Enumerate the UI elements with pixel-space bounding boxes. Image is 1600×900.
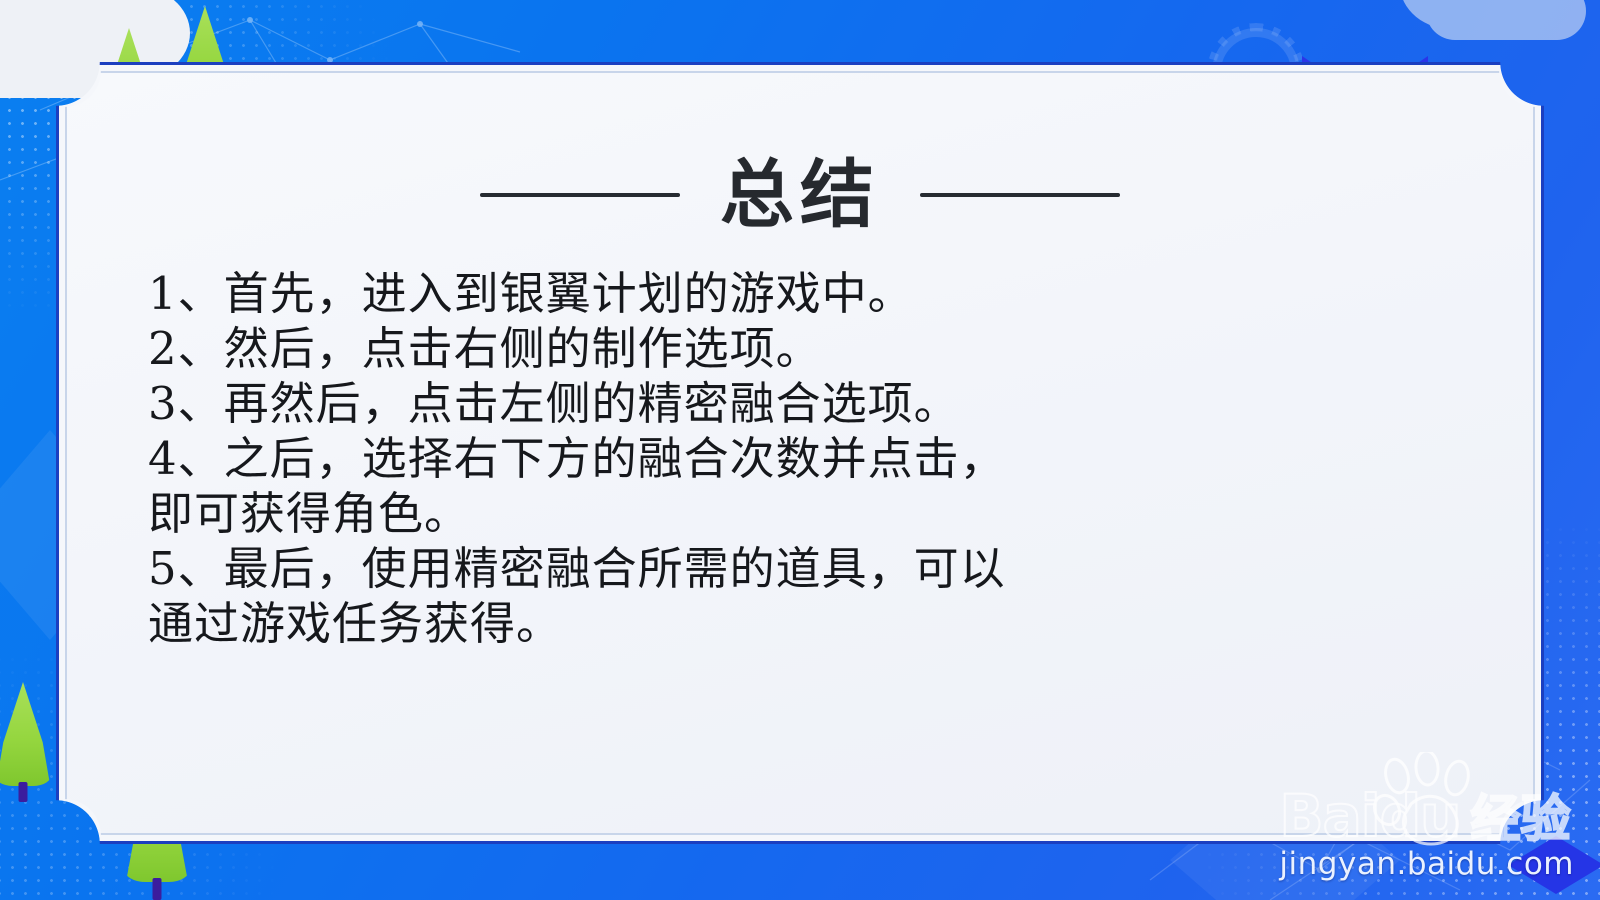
slide-canvas: 总结 1、首先，进入到银翼计划的游戏中。 2、然后，点击右侧的制作选项。 3、再… xyxy=(0,0,1600,900)
blue-diamond-icon xyxy=(1508,836,1600,894)
summary-line: 通过游戏任务获得。 xyxy=(148,596,1474,651)
summary-list: 1、首先，进入到银翼计划的游戏中。 2、然后，点击右侧的制作选项。 3、再然后，… xyxy=(126,266,1474,651)
summary-line: 1、首先，进入到银翼计划的游戏中。 xyxy=(148,266,1474,321)
tree-icon xyxy=(0,682,52,802)
content-card: 总结 1、首先，进入到银翼计划的游戏中。 2、然后，点击右侧的制作选项。 3、再… xyxy=(56,62,1544,844)
summary-line: 5、最后，使用精密融合所需的道具，可以 xyxy=(148,541,1474,596)
summary-line: 4、之后，选择右下方的融合次数并点击， xyxy=(148,431,1474,486)
page-title-row: 总结 xyxy=(126,158,1474,232)
summary-line: 3、再然后，点击左侧的精密融合选项。 xyxy=(148,376,1474,431)
title-rule-right xyxy=(920,193,1120,197)
summary-line: 2、然后，点击右侧的制作选项。 xyxy=(148,321,1474,376)
card-content: 总结 1、首先，进入到银翼计划的游戏中。 2、然后，点击右侧的制作选项。 3、再… xyxy=(56,62,1544,844)
watermark-url: jingyan.baidu.com xyxy=(1279,846,1574,882)
page-title: 总结 xyxy=(720,158,880,232)
summary-line: 即可获得角色。 xyxy=(148,486,1474,541)
title-rule-left xyxy=(480,193,680,197)
